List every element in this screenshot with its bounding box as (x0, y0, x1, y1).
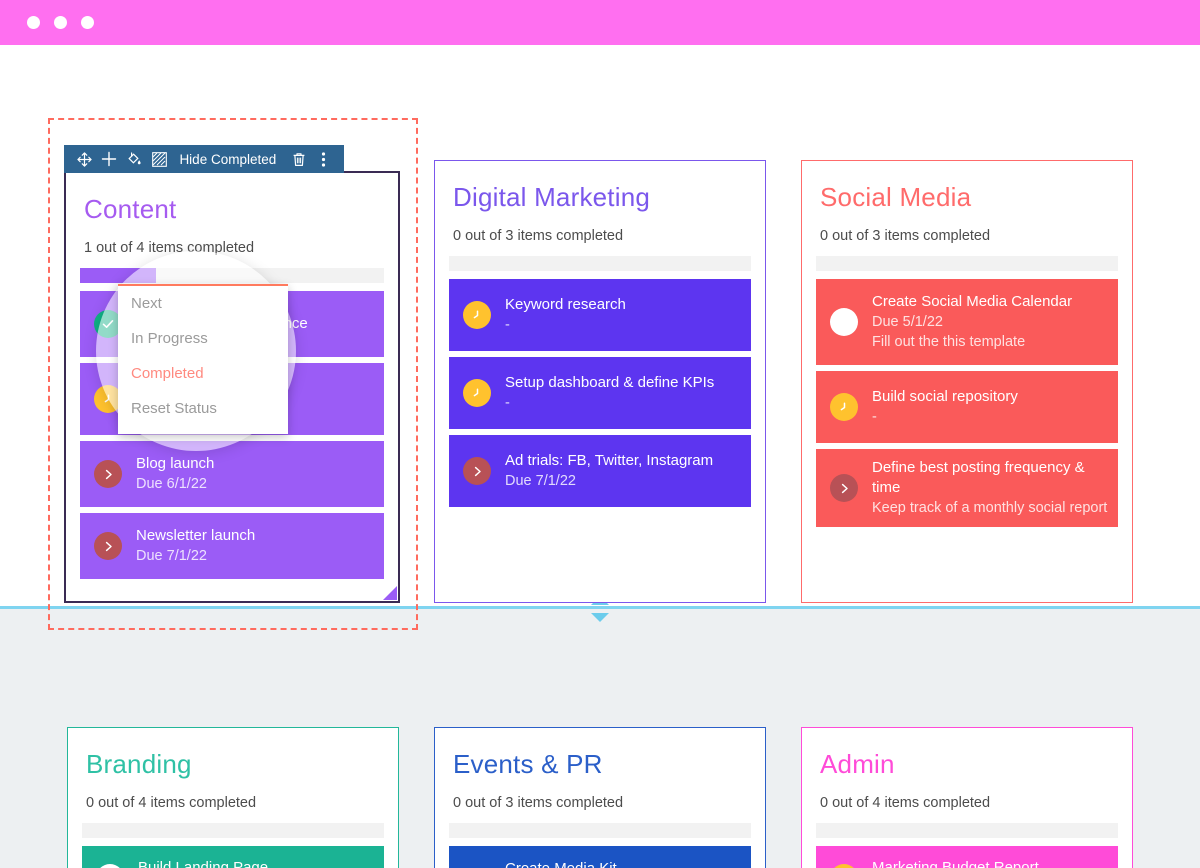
card-title-events-pr: Events & PR (435, 728, 765, 780)
list-item-title: Blog launch (136, 454, 374, 474)
list-item[interactable]: Build social repository - (816, 371, 1118, 443)
item-list-digital-marketing: Keyword research - Setup dashboard & def… (449, 279, 751, 507)
card-title-admin: Admin (802, 728, 1132, 780)
window-dot-maximize[interactable] (81, 16, 94, 29)
page-body: Content 1 out of 4 items completed Resea… (0, 45, 1200, 868)
card-progress-label-admin: 0 out of 4 items completed (802, 780, 1132, 812)
card-progress-label-social-media: 0 out of 3 items completed (802, 213, 1132, 245)
card-resize-handle[interactable] (383, 586, 397, 600)
move-icon[interactable] (72, 145, 97, 173)
list-item-title: Ad trials: FB, Twitter, Instagram (505, 451, 741, 471)
progress-track-digital-marketing (449, 256, 751, 271)
status-in-progress-icon[interactable] (830, 864, 858, 868)
list-item[interactable]: Create Social Media Calendar Due 5/1/22 … (816, 279, 1118, 365)
pattern-swatch-icon[interactable] (147, 145, 172, 173)
list-item[interactable]: Newsletter launch Due 7/1/22 (80, 513, 384, 579)
card-progress-label-digital-marketing: 0 out of 3 items completed (435, 213, 765, 245)
progress-track-events-pr (449, 823, 751, 838)
card-title-digital-marketing: Digital Marketing (435, 161, 765, 213)
trash-icon[interactable] (286, 145, 311, 173)
list-item-meta: Due 7/1/22 (505, 471, 741, 491)
card-title-social-media: Social Media (802, 161, 1132, 213)
window-titlebar (0, 0, 1200, 45)
item-list-social-media: Create Social Media Calendar Due 5/1/22 … (816, 279, 1118, 527)
list-item-title: Build Landing Page (138, 858, 374, 868)
more-vertical-icon[interactable] (311, 145, 336, 173)
list-item-meta: - (872, 407, 1108, 427)
list-item-title: Newsletter launch (136, 526, 374, 546)
list-item[interactable]: Define best posting frequency & time Kee… (816, 449, 1118, 527)
item-list-events-pr: Create Media Kit Due 5/1/22 Check out th… (449, 846, 751, 868)
list-item-meta: - (505, 393, 741, 413)
window-controls (27, 16, 94, 29)
list-item-title: Marketing Budget Report (872, 858, 1108, 868)
paint-bucket-icon[interactable] (122, 145, 147, 173)
status-in-progress-icon[interactable] (463, 379, 491, 407)
dropdown-item-reset-status[interactable]: Reset Status (118, 391, 288, 426)
status-next-icon[interactable] (463, 457, 491, 485)
card-toolbar[interactable]: Hide Completed (64, 145, 344, 173)
list-item-meta: - (505, 315, 741, 335)
status-none-icon[interactable] (96, 864, 124, 868)
app-window: Content 1 out of 4 items completed Resea… (0, 0, 1200, 868)
card-admin[interactable]: Admin 0 out of 4 items completed Marketi… (801, 727, 1133, 868)
list-item-title: Keyword research (505, 295, 741, 315)
status-in-progress-icon[interactable] (463, 301, 491, 329)
list-item[interactable]: Keyword research - (449, 279, 751, 351)
list-item-title: Create Social Media Calendar (872, 292, 1108, 312)
status-next-icon[interactable] (830, 474, 858, 502)
chevron-down-icon[interactable] (591, 613, 609, 622)
status-next-icon[interactable] (94, 532, 122, 560)
dropdown-item-next[interactable]: Next (118, 286, 288, 321)
progress-track-branding (82, 823, 384, 838)
list-item-title: Define best posting frequency & time (872, 458, 1108, 498)
window-dot-close[interactable] (27, 16, 40, 29)
hide-completed-label[interactable]: Hide Completed (171, 152, 286, 167)
list-item[interactable]: Create Media Kit Due 5/1/22 Check out th… (449, 846, 751, 868)
dropdown-item-completed[interactable]: Completed (118, 356, 288, 391)
card-title-content: Content (66, 173, 398, 225)
card-progress-label-events-pr: 0 out of 3 items completed (435, 780, 765, 812)
list-item[interactable]: Setup dashboard & define KPIs - (449, 357, 751, 429)
card-social-media[interactable]: Social Media 0 out of 3 items completed … (801, 160, 1133, 603)
status-none-icon[interactable] (830, 308, 858, 336)
status-in-progress-icon[interactable] (830, 393, 858, 421)
list-item-title: Create Media Kit (505, 859, 741, 868)
list-item-title: Setup dashboard & define KPIs (505, 373, 741, 393)
list-item-meta: Keep track of a monthly social report (872, 498, 1108, 518)
item-list-branding: Build Landing Page Check out editable ex… (82, 846, 384, 868)
card-title-branding: Branding (68, 728, 398, 780)
status-dropdown-menu[interactable]: Next In Progress Completed Reset Status (118, 284, 288, 434)
dropdown-item-in-progress[interactable]: In Progress (118, 321, 288, 356)
card-branding[interactable]: Branding 0 out of 4 items completed Buil… (67, 727, 399, 868)
list-item[interactable]: Blog launch Due 6/1/22 (80, 441, 384, 507)
list-item[interactable]: Build Landing Page Check out editable ex… (82, 846, 384, 868)
plus-icon[interactable] (97, 145, 122, 173)
progress-track-admin (816, 823, 1118, 838)
card-events-pr[interactable]: Events & PR 0 out of 3 items completed C… (434, 727, 766, 868)
card-progress-label-content: 1 out of 4 items completed (66, 225, 398, 257)
list-item-meta: Due 5/1/22 (872, 312, 1108, 332)
progress-track-social-media (816, 256, 1118, 271)
item-list-admin: Marketing Budget Report Due 5/1/22 (816, 846, 1118, 868)
list-item[interactable]: Marketing Budget Report Due 5/1/22 (816, 846, 1118, 868)
list-item-meta: Due 7/1/22 (136, 546, 374, 566)
list-item[interactable]: Ad trials: FB, Twitter, Instagram Due 7/… (449, 435, 751, 507)
list-item-meta-secondary: Fill out the this template (872, 332, 1108, 352)
window-dot-minimize[interactable] (54, 16, 67, 29)
status-next-icon[interactable] (94, 460, 122, 488)
list-item-meta: Due 6/1/22 (136, 474, 374, 494)
list-item-title: Build social repository (872, 387, 1108, 407)
card-progress-label-branding: 0 out of 4 items completed (68, 780, 398, 812)
card-digital-marketing[interactable]: Digital Marketing 0 out of 3 items compl… (434, 160, 766, 603)
